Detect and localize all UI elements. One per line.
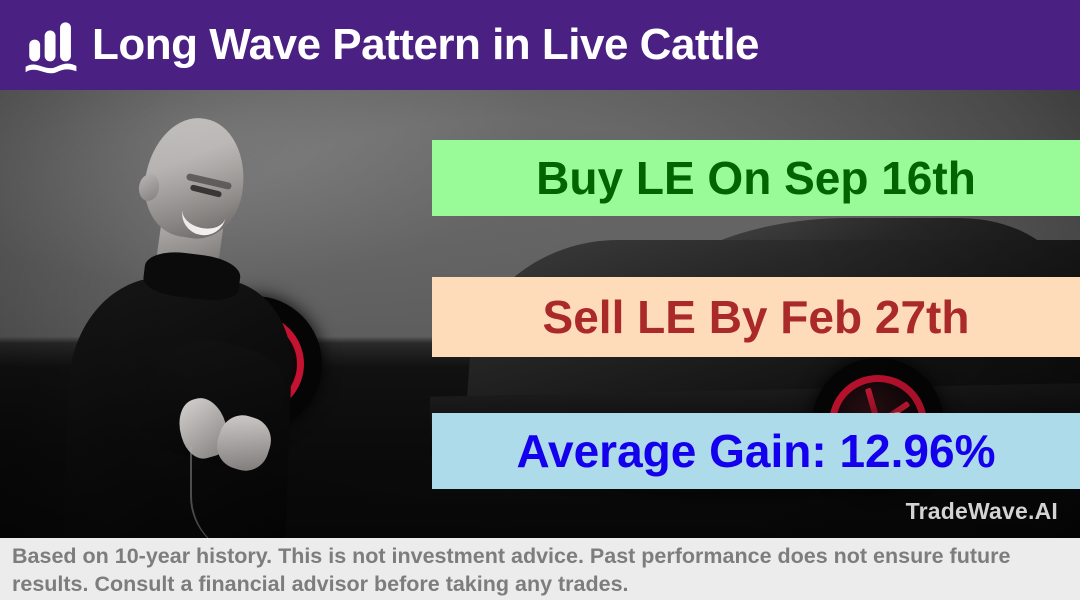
buy-signal-label: Buy LE On Sep 16th <box>536 155 976 201</box>
disclaimer-text: Based on 10-year history. This is not in… <box>12 543 1070 598</box>
buy-signal-banner: Buy LE On Sep 16th <box>432 140 1080 216</box>
average-gain-banner: Average Gain: 12.96% <box>432 413 1080 489</box>
bar-chart-wave-logo-icon <box>22 16 80 74</box>
header-bar: Long Wave Pattern in Live Cattle <box>0 0 1080 90</box>
sell-signal-label: Sell LE By Feb 27th <box>543 294 970 340</box>
sell-signal-banner: Sell LE By Feb 27th <box>432 277 1080 357</box>
brand-watermark: TradeWave.AI <box>906 500 1058 523</box>
page-title: Long Wave Pattern in Live Cattle <box>92 23 759 67</box>
disclaimer-bar: Based on 10-year history. This is not in… <box>0 538 1080 600</box>
average-gain-label: Average Gain: 12.96% <box>517 428 996 474</box>
promo-card: Long Wave Pattern in Live Cattle <box>0 0 1080 600</box>
